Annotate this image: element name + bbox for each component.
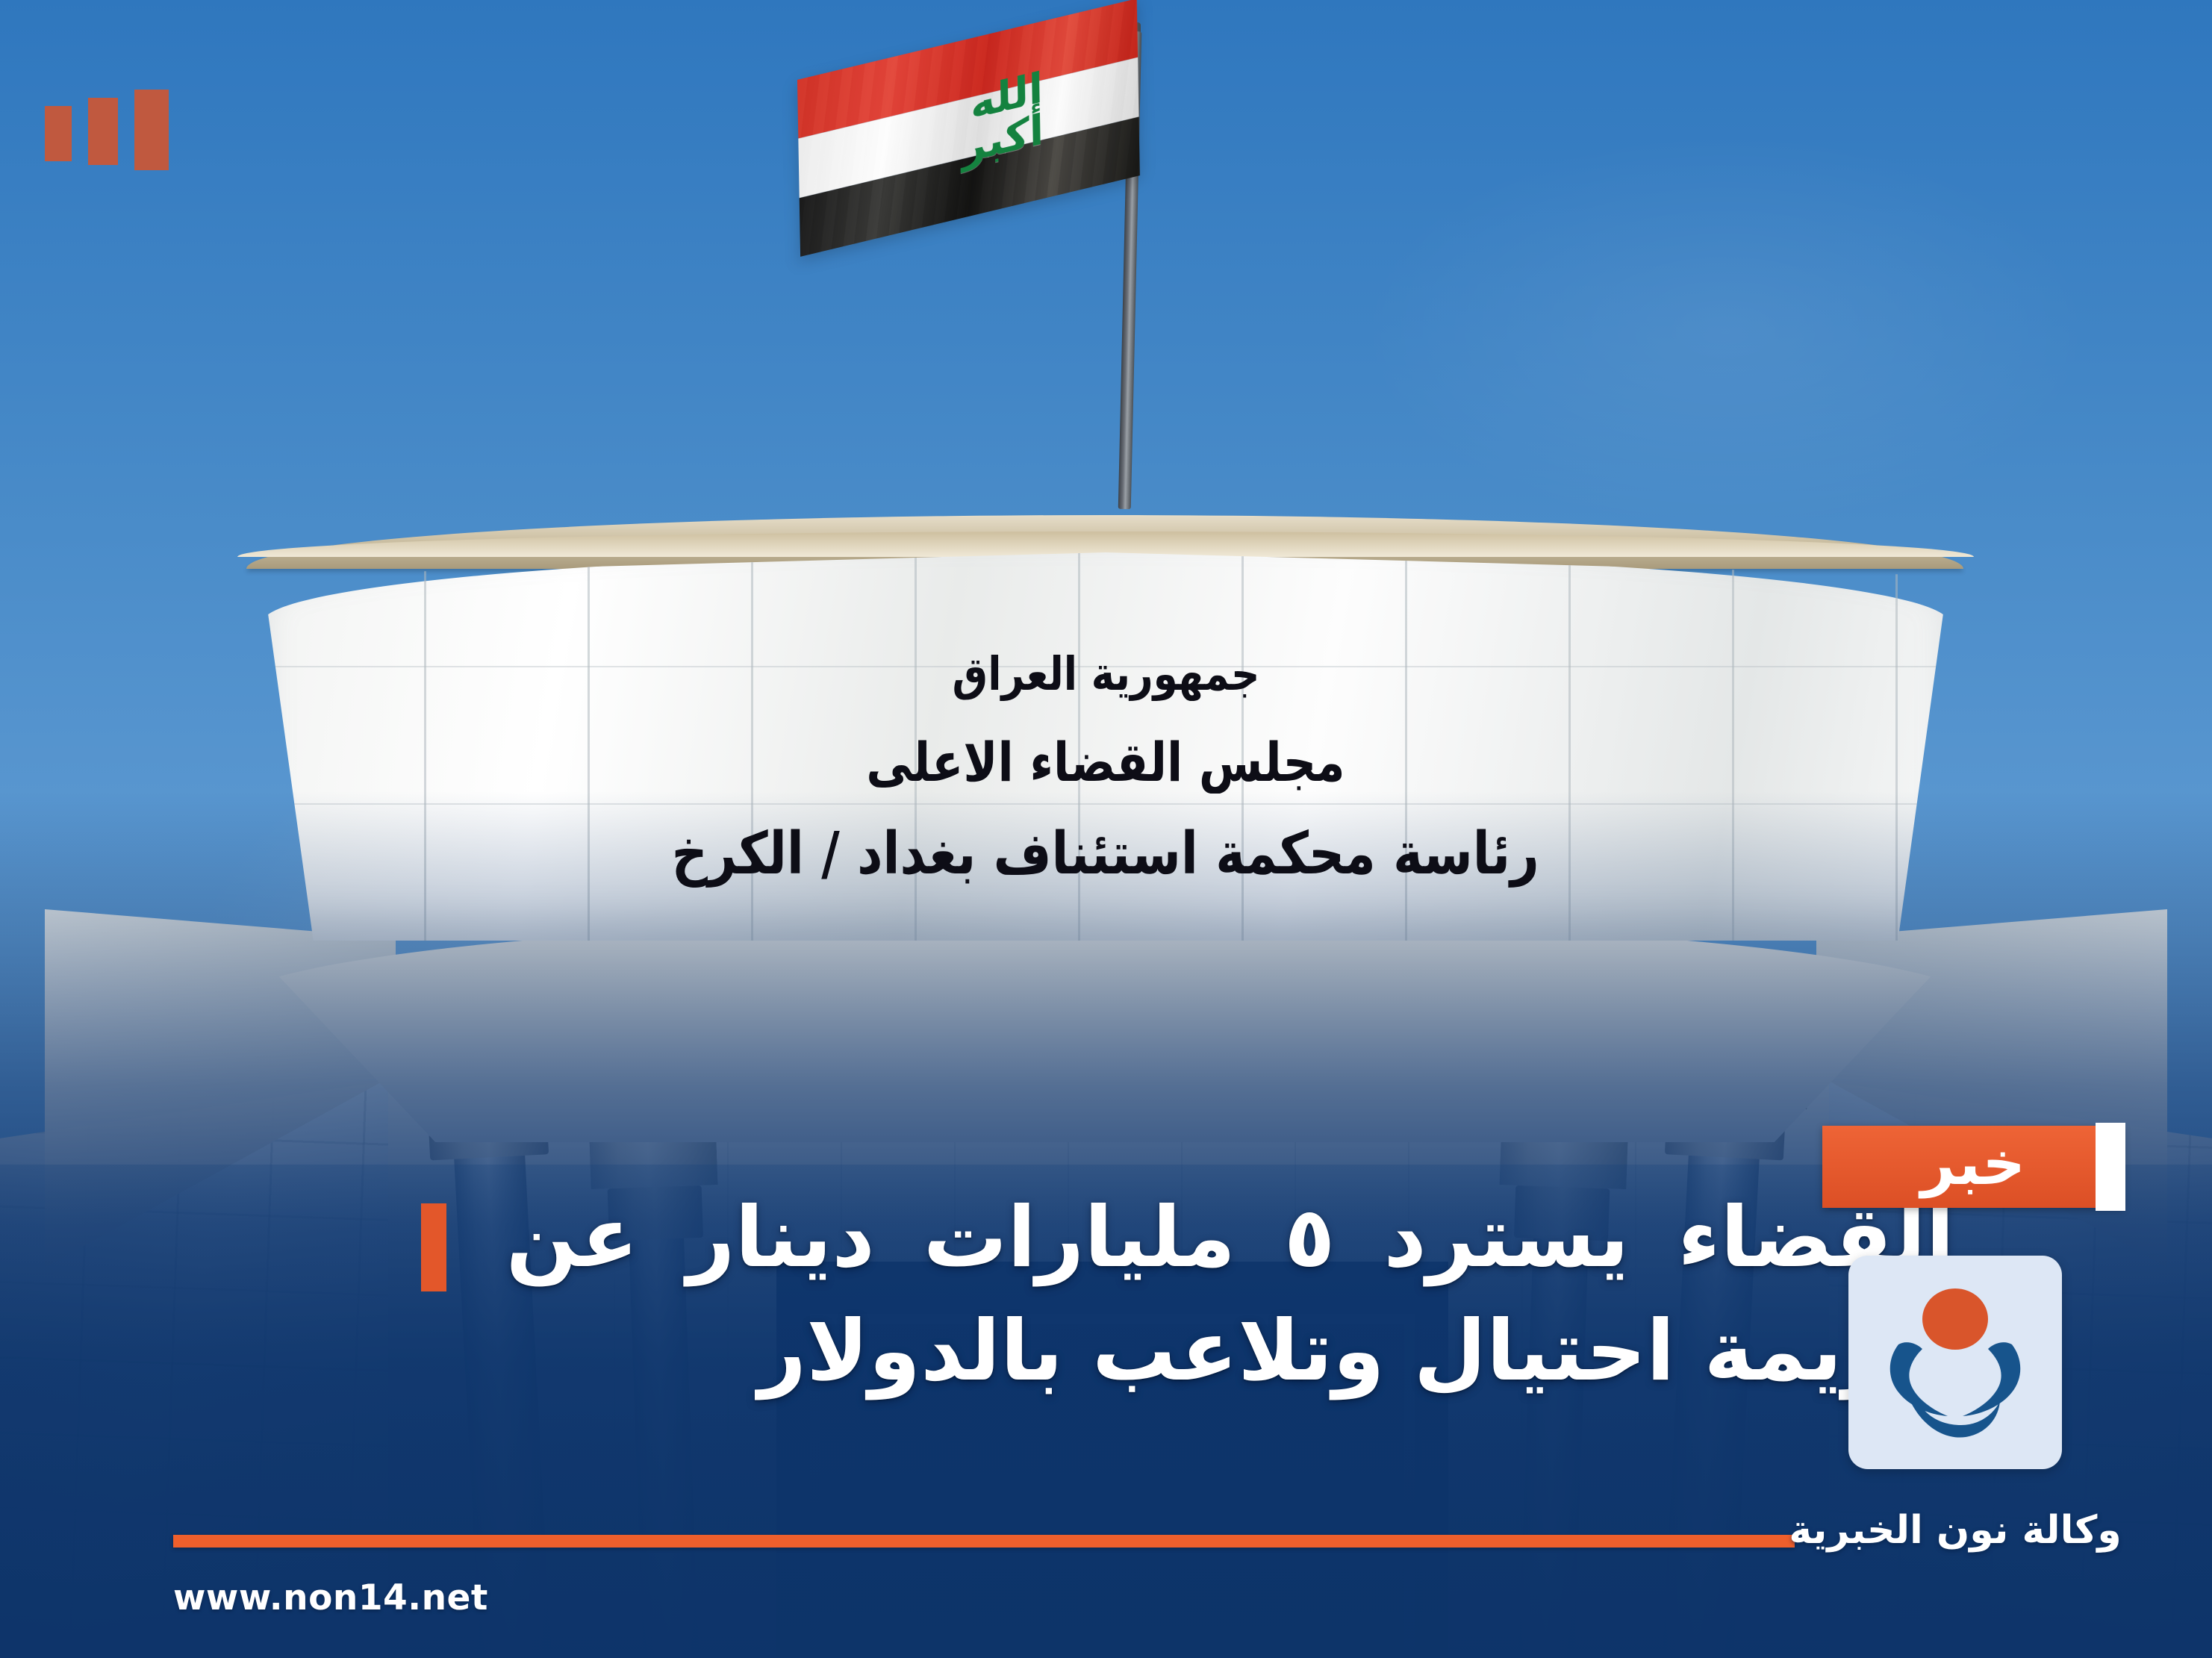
headline-line-2: جريمة احتيال وتلاعب بالدولار — [301, 1294, 1954, 1408]
corner-bars-decoration — [45, 90, 169, 170]
news-card: الله أكبر جمهورية العراق مجلس القضاء الا… — [0, 0, 2212, 1658]
site-url[interactable]: www.non14.net — [173, 1577, 488, 1618]
agency-logo — [1848, 1256, 2062, 1469]
headline: القضاء يسترد ٥ مليارات دينار عن جريمة اح… — [301, 1181, 1954, 1409]
news-badge-label: خبر — [1921, 1134, 2025, 1194]
footer-divider — [173, 1535, 1795, 1548]
brand-block: خبر وكالة نون الخبرية — [1786, 1126, 2124, 1553]
headline-line-1: القضاء يسترد ٥ مليارات دينار عن — [301, 1181, 1954, 1294]
corner-bar-2 — [88, 98, 118, 165]
news-badge: خبر — [1822, 1126, 2124, 1208]
news-badge-white-tab — [2096, 1123, 2125, 1211]
corner-bar-3 — [45, 106, 72, 161]
agency-name: وكالة نون الخبرية — [1786, 1508, 2124, 1553]
corner-bar-1 — [134, 90, 169, 170]
noon-agency-logo-icon — [1866, 1273, 2045, 1452]
